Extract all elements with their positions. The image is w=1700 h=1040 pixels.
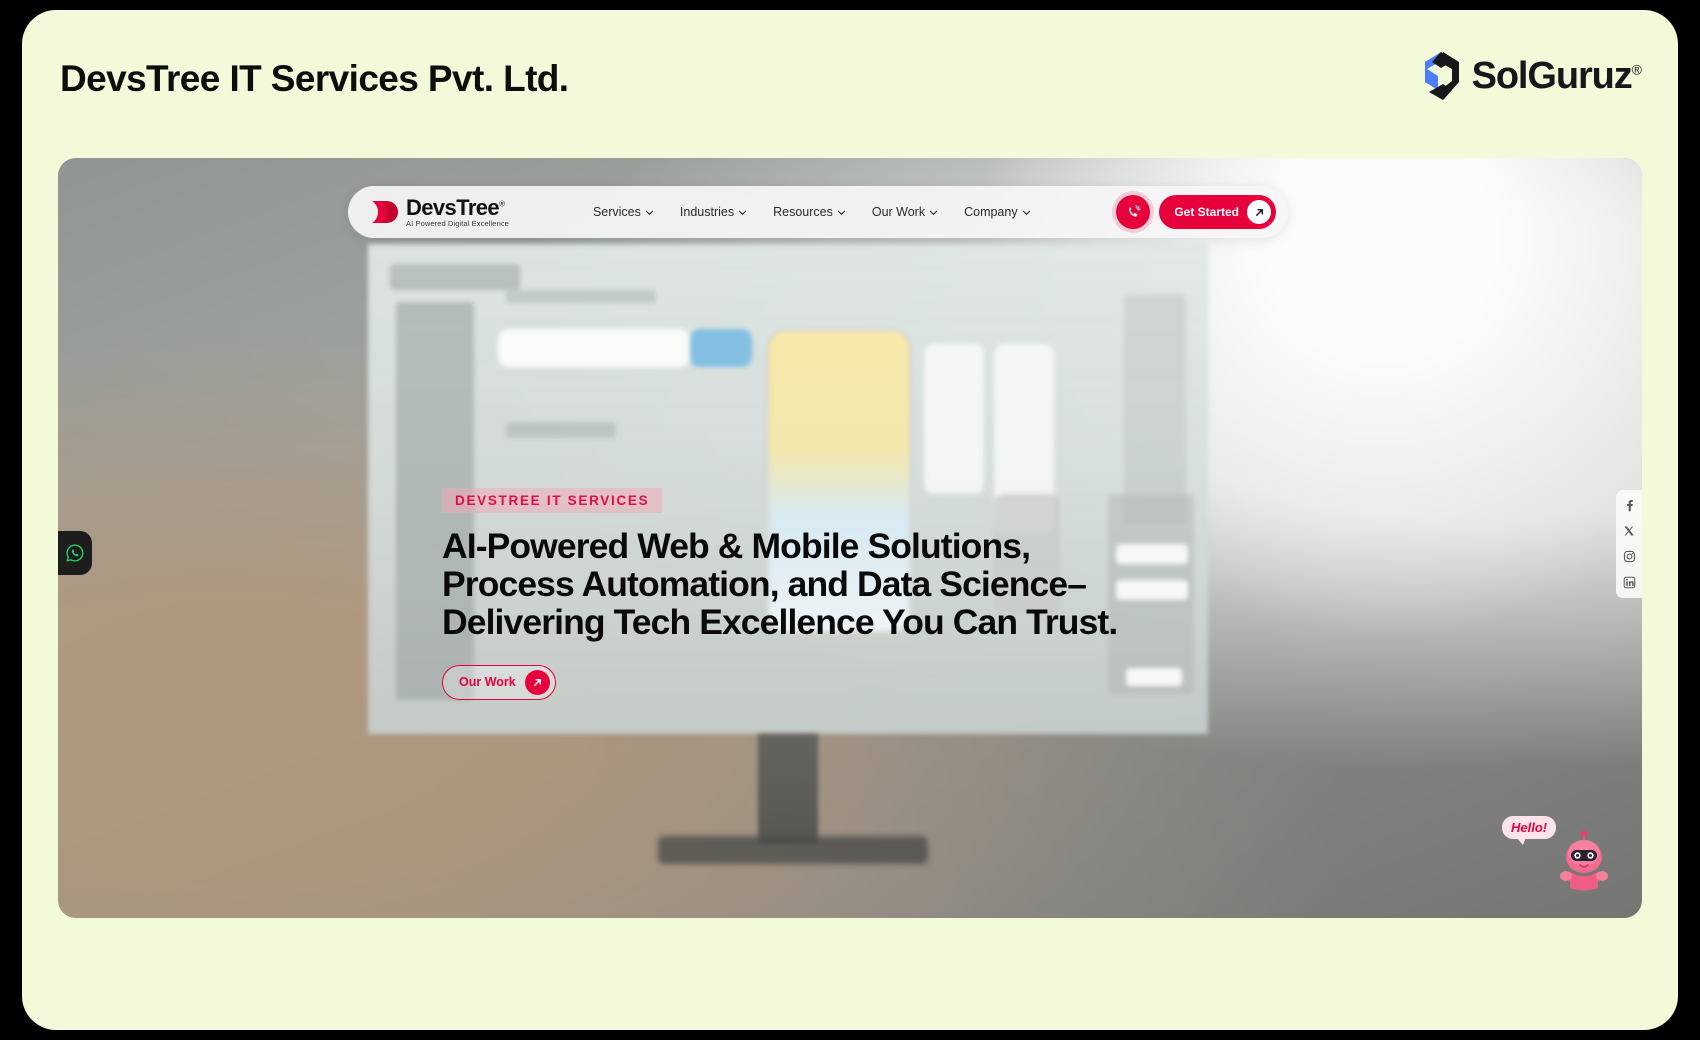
page-card: DevsTree IT Services Pvt. Ltd. SolGuruz®: [22, 10, 1678, 1030]
monitor-input-blur: [498, 329, 690, 367]
hero-headline-line-2: Process Automation, and Data Science–: [442, 565, 1142, 603]
nav-item-industries[interactable]: Industries: [680, 205, 747, 219]
chatbot-widget[interactable]: Hello!: [1502, 812, 1612, 892]
monitor-section-label-blur: [506, 422, 616, 438]
whatsapp-button[interactable]: [58, 531, 92, 575]
hero-eyebrow-badge: DEVSTREE IT SERVICES: [442, 488, 662, 513]
nav-label: Our Work: [872, 205, 925, 219]
phone-call-icon: [1125, 204, 1142, 221]
website-screenshot: DevsTree® AI Powered Digital Excellence …: [58, 158, 1642, 918]
page-title: DevsTree IT Services Pvt. Ltd.: [60, 58, 568, 100]
x-twitter-icon[interactable]: [1623, 525, 1635, 537]
chevron-down-icon: [738, 208, 747, 217]
navbar-links: Services Industries Resources Our Work C…: [593, 205, 1031, 219]
hero-section: DEVSTREE IT SERVICES AI-Powered Web & Mo…: [442, 488, 1142, 700]
chatbot-greeting-bubble: Hello!: [1502, 816, 1556, 839]
nav-label: Services: [593, 205, 641, 219]
hero-headline: AI-Powered Web & Mobile Solutions, Proce…: [442, 527, 1142, 641]
call-button[interactable]: [1116, 195, 1150, 229]
document-header: DevsTree IT Services Pvt. Ltd. SolGuruz®: [22, 10, 1678, 150]
arrow-up-right-icon: [1247, 200, 1271, 224]
hero-headline-line-1: AI-Powered Web & Mobile Solutions,: [442, 527, 1142, 565]
devstree-name: DevsTree: [406, 195, 499, 220]
nav-label: Industries: [680, 205, 734, 219]
our-work-button[interactable]: Our Work: [442, 665, 556, 700]
chevron-down-icon: [1022, 208, 1031, 217]
monitor-base: [658, 836, 928, 864]
site-navbar: DevsTree® AI Powered Digital Excellence …: [348, 186, 1288, 238]
devstree-registered-mark: ®: [499, 199, 504, 208]
devstree-logo-name: DevsTree®: [406, 197, 509, 219]
devstree-d-icon: [370, 199, 400, 225]
nav-item-company[interactable]: Company: [964, 205, 1031, 219]
nav-item-our-work[interactable]: Our Work: [872, 205, 938, 219]
devstree-logo-text: DevsTree® AI Powered Digital Excellence: [406, 197, 509, 228]
monitor-subheading-blur: [506, 290, 656, 303]
brand-wordmark: SolGuruz®: [1472, 57, 1642, 95]
linkedin-icon[interactable]: [1623, 576, 1636, 589]
brand-name: SolGuruz: [1472, 55, 1632, 97]
monitor-stand: [758, 734, 818, 844]
solguruz-hex-s-icon: [1419, 50, 1465, 102]
nav-item-services[interactable]: Services: [593, 205, 654, 219]
robot-mascot-icon: [1556, 830, 1612, 892]
monitor-heading-blur: [390, 264, 520, 290]
nav-item-resources[interactable]: Resources: [773, 205, 846, 219]
get-started-button[interactable]: Get Started: [1159, 195, 1276, 229]
monitor-card-blur: [924, 344, 984, 494]
devstree-logo[interactable]: DevsTree® AI Powered Digital Excellence: [370, 197, 509, 228]
chevron-down-icon: [645, 208, 654, 217]
facebook-icon[interactable]: [1623, 499, 1636, 512]
nav-label: Resources: [773, 205, 833, 219]
monitor-button-blur: [690, 329, 752, 367]
brand-registered-mark: ®: [1632, 61, 1642, 77]
chevron-down-icon: [929, 208, 938, 217]
instagram-icon[interactable]: [1623, 550, 1636, 563]
devstree-tagline: AI Powered Digital Excellence: [406, 220, 509, 228]
navbar-actions: Get Started: [1116, 195, 1276, 229]
our-work-label: Our Work: [459, 675, 516, 689]
social-media-rail: [1616, 490, 1642, 598]
get-started-label: Get Started: [1174, 205, 1239, 219]
chevron-down-icon: [837, 208, 846, 217]
whatsapp-icon: [65, 543, 85, 563]
solguruz-brand-logo: SolGuruz®: [1419, 50, 1642, 102]
arrow-up-right-icon: [525, 670, 550, 695]
nav-label: Company: [964, 205, 1018, 219]
hero-headline-line-3: Delivering Tech Excellence You Can Trust…: [442, 603, 1142, 641]
